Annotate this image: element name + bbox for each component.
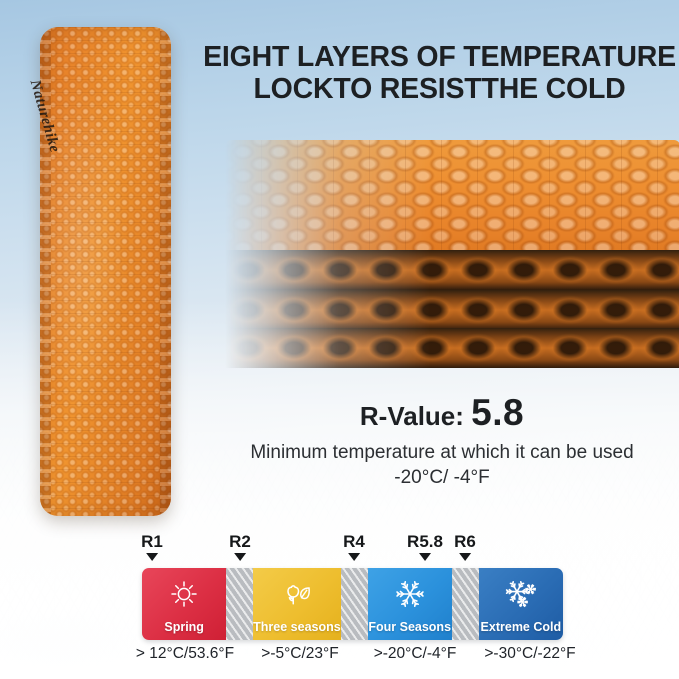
infographic-canvas: Naturehike EIGHT LAYERS OF TEMPERATURE L… xyxy=(0,0,679,679)
scale-segment-label: Extreme Cold xyxy=(481,620,562,640)
r-value-subtitle-line-2: -20°C/ -4°F xyxy=(205,466,679,491)
scale-tick-r1: R1 xyxy=(141,533,163,561)
stack-ridge-lines xyxy=(225,140,679,262)
r-value-subtitle: Minimum temperature at which it can be u… xyxy=(205,441,679,490)
scale-segment-label: Spring xyxy=(164,620,204,640)
scale-tick-label: R5.8 xyxy=(407,533,443,550)
scale-tick-arrow-icon xyxy=(348,553,360,561)
scale-tick-arrow-icon xyxy=(419,553,431,561)
scale-bar: SpringThree seasonsFour SeasonsExtreme C… xyxy=(142,568,563,640)
scale-segment-divider-3 xyxy=(341,568,368,640)
scale-tick-r6: R6 xyxy=(454,533,476,561)
scale-temperature-label-0: > 12°C/53.6°F xyxy=(136,645,234,663)
r-value-number: 5.8 xyxy=(471,392,524,433)
r-value-subtitle-line-1: Minimum temperature at which it can be u… xyxy=(205,441,679,466)
scale-tick-r5-8: R5.8 xyxy=(407,533,443,561)
scale-tick-label: R1 xyxy=(141,533,163,550)
scale-tick-arrow-icon xyxy=(459,553,471,561)
scale-tick-label: R2 xyxy=(229,533,251,550)
scale-tick-label: R6 xyxy=(454,533,476,550)
scale-tick-row: R1R2R4R5.8R6 xyxy=(120,533,580,569)
scale-tick-arrow-icon xyxy=(234,553,246,561)
scale-temperature-label-3: >-30°C/-22°F xyxy=(484,645,575,663)
scale-segment-divider-5 xyxy=(452,568,479,640)
sun-icon xyxy=(142,575,226,613)
r-value-scale: R1R2R4R5.8R6 SpringThree seasonsFour Sea… xyxy=(120,533,580,673)
scale-segment-label: Three seasons xyxy=(253,620,341,640)
scale-segment-three-seasons[interactable]: Three seasons xyxy=(253,568,341,640)
scale-temperature-row: > 12°C/53.6°F>-5°C/23°F>-20°C/-4°F>-30°C… xyxy=(120,645,580,671)
flower-leaf-icon xyxy=(253,575,341,613)
scale-segment-spring[interactable]: Spring xyxy=(142,568,226,640)
scale-segment-extreme-cold[interactable]: Extreme Cold xyxy=(479,568,563,640)
pad-right-edge xyxy=(160,27,171,516)
scale-tick-arrow-icon xyxy=(146,553,158,561)
scale-tick-r2: R2 xyxy=(229,533,251,561)
layer-stack-graphic xyxy=(225,138,679,370)
r-value-label: R-Value: xyxy=(360,401,464,431)
title-line-2: LOCKTO RESISTTHE COLD xyxy=(200,73,679,105)
snowflake-icon xyxy=(368,575,452,613)
stack-layer-1 xyxy=(225,250,679,290)
scale-segment-four-seasons[interactable]: Four Seasons xyxy=(368,568,452,640)
title-line-1: EIGHT LAYERS OF TEMPERATURE xyxy=(200,41,679,73)
scale-tick-label: R4 xyxy=(343,533,365,550)
scale-tick-r4: R4 xyxy=(343,533,365,561)
page-title: EIGHT LAYERS OF TEMPERATURE LOCKTO RESIS… xyxy=(200,41,679,105)
scale-segment-label: Four Seasons xyxy=(368,620,451,640)
double-snowflake-icon xyxy=(479,575,563,613)
scale-temperature-label-2: >-20°C/-4°F xyxy=(374,645,457,663)
r-value-line: R-Value: 5.8 xyxy=(205,392,679,434)
stack-layer-3 xyxy=(225,328,679,368)
sleeping-pad-product-image xyxy=(40,27,171,516)
stack-top-surface xyxy=(225,140,679,262)
r-value-block: R-Value: 5.8 Minimum temperature at whic… xyxy=(205,392,679,490)
pad-rib-lines xyxy=(40,27,171,516)
scale-temperature-label-1: >-5°C/23°F xyxy=(261,645,338,663)
stack-layer-2 xyxy=(225,290,679,330)
scale-segment-divider-1 xyxy=(226,568,253,640)
